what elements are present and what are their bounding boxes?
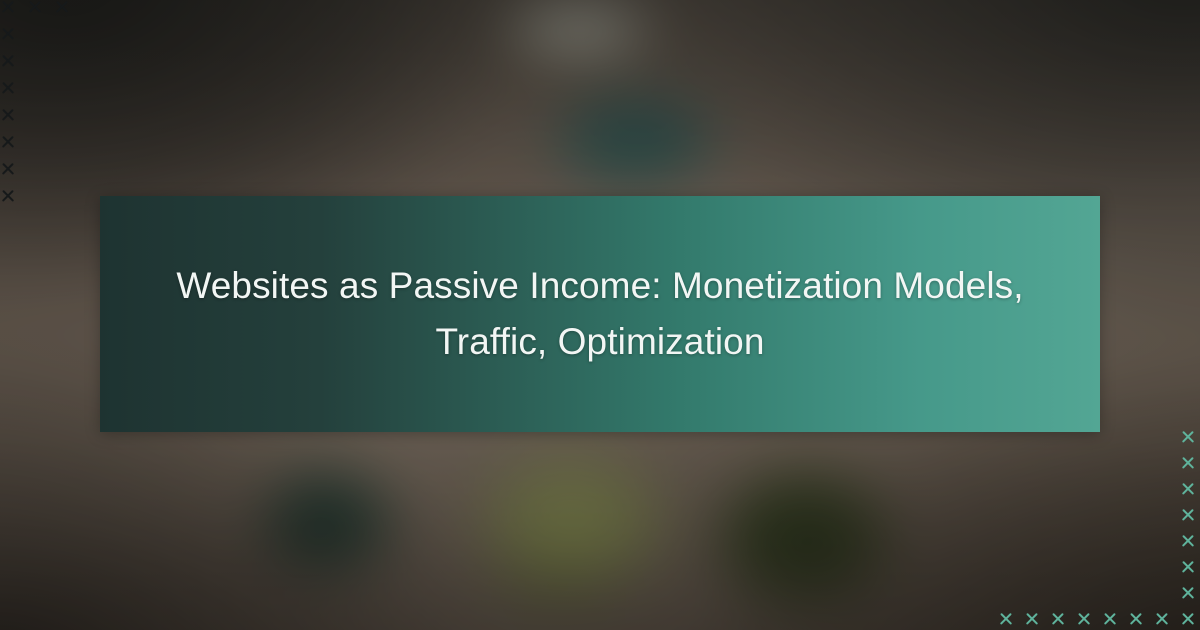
x-mark-icon [49,0,75,20]
x-mark-icon [993,606,1019,630]
x-mark-icon [1071,606,1097,630]
x-mark-icon [0,129,21,155]
x-mark-icon [1149,606,1175,630]
x-mark-icon [0,48,21,74]
x-mark-icon [1175,528,1200,554]
x-mark-icon [1175,502,1200,528]
title-banner: Websites as Passive Income: Monetization… [100,196,1100,432]
x-pattern-bottom-right [993,424,1200,630]
x-mark-icon [0,0,21,20]
page-title: Websites as Passive Income: Monetization… [100,258,1100,370]
social-share-card: Websites as Passive Income: Monetization… [0,0,1200,630]
x-mark-icon [1019,606,1045,630]
x-mark-icon [1175,424,1200,450]
x-pattern-top-left [0,0,76,210]
x-mark-icon [1097,606,1123,630]
x-mark-icon [0,21,21,47]
x-mark-icon [1123,606,1149,630]
x-mark-icon [0,75,21,101]
x-mark-icon [0,156,21,182]
x-mark-icon [22,0,48,20]
x-mark-icon [1175,606,1200,630]
x-mark-icon [1175,554,1200,580]
x-mark-icon [0,183,21,209]
x-mark-icon [1175,580,1200,606]
x-mark-icon [0,102,21,128]
x-mark-icon [1175,450,1200,476]
x-mark-icon [1045,606,1071,630]
x-mark-icon [1175,476,1200,502]
